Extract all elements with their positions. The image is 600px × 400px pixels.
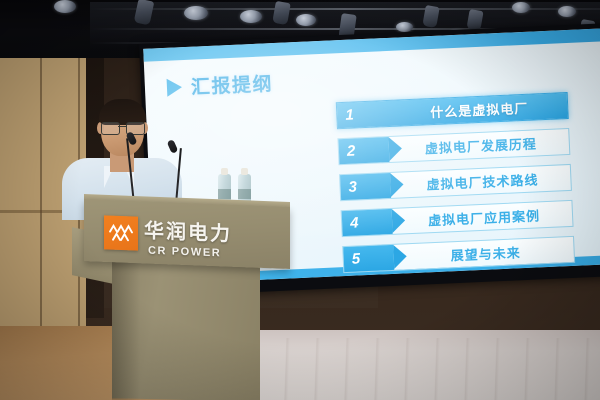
triangle-bullet-icon: [167, 78, 183, 97]
agenda-item-number: 2: [338, 137, 389, 164]
ceiling-lamp-icon: [396, 22, 413, 32]
cr-power-logo-mark-icon: [104, 215, 138, 250]
agenda-item-label: 虚拟电厂技术路线: [390, 165, 571, 198]
brand-suffix-cn: 电力: [188, 222, 232, 246]
glasses-icon: [100, 122, 145, 133]
agenda-item-number: 3: [340, 173, 391, 200]
page-title: 汇报提纲: [190, 69, 273, 100]
ceiling-lamp-icon: [184, 6, 208, 20]
agenda-item[interactable]: 5展望与未来: [342, 236, 575, 273]
ceiling-lamp-icon: [240, 10, 262, 23]
slide-title-block: 汇报提纲: [166, 69, 273, 101]
ceiling-lamp-icon: [512, 2, 530, 13]
podium-base-shading: [112, 262, 140, 400]
presentation-photo: 汇报提纲 1什么是虚拟电厂2虚拟电厂发展历程3虚拟电厂技术路线4虚拟电厂应用案例…: [0, 0, 600, 400]
ceiling-lamp-icon: [54, 0, 76, 13]
agenda-item[interactable]: 4虚拟电厂应用案例: [341, 200, 574, 237]
agenda-item[interactable]: 3虚拟电厂技术路线: [339, 164, 572, 201]
agenda-item-label: 虚拟电厂应用案例: [392, 201, 573, 234]
ceiling-lamp-icon: [296, 14, 316, 26]
agenda-item-label: 虚拟电厂发展历程: [388, 129, 569, 162]
podium-brand-cn: 华润电力: [144, 214, 232, 246]
agenda-item[interactable]: 2虚拟电厂发展历程: [337, 128, 570, 165]
ceiling-lamp-icon: [558, 6, 576, 17]
agenda-item-number: 4: [342, 209, 393, 236]
chevron-right-icon: [379, 102, 392, 125]
agenda-item-number: 5: [343, 245, 394, 272]
agenda-item-label: 什么是虚拟电厂: [387, 93, 568, 126]
agenda-item[interactable]: 1什么是虚拟电厂: [336, 92, 569, 129]
floor-grain-texture: [200, 338, 600, 400]
agenda-list: 1什么是虚拟电厂2虚拟电厂发展历程3虚拟电厂技术路线4虚拟电厂应用案例5展望与未…: [336, 92, 575, 273]
brand-name-cn: 华润: [144, 220, 188, 244]
